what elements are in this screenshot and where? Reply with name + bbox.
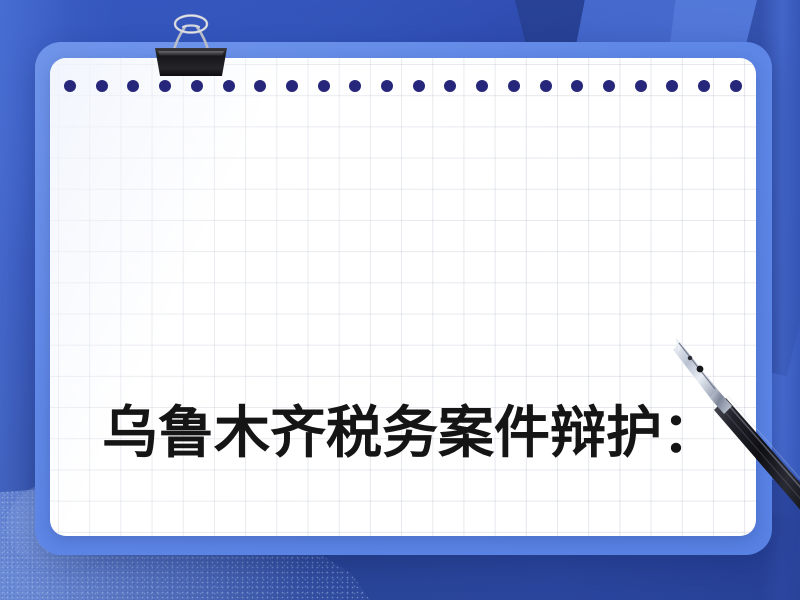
paper-punch-dot (223, 80, 235, 92)
binder-clip-icon (152, 14, 230, 76)
paper-punch-dot (96, 80, 108, 92)
paper-punch-dot (159, 80, 171, 92)
paper-punch-dot (191, 80, 203, 92)
paper-punch-dot (381, 80, 393, 92)
paper-punch-dot (444, 80, 456, 92)
paper-punch-dot (254, 80, 266, 92)
paper-punch-dot (571, 80, 583, 92)
title-card-canvas: 乌鲁木齐税务案件辩护： 法理与情理交织，守护财 产与自由 (0, 0, 800, 600)
paper-punch-dot (635, 80, 647, 92)
title-line-1: 乌鲁木齐税务案件辩护： (102, 394, 756, 474)
binder-clip-body-sheen (158, 51, 224, 56)
paper-punch-dot (127, 80, 139, 92)
paper-punch-dot (349, 80, 361, 92)
paper-punch-dot (508, 80, 520, 92)
paper-punch-dot (64, 80, 76, 92)
paper-punch-dot-row (50, 80, 756, 94)
paper-punch-dot (666, 80, 678, 92)
paper-punch-dot (286, 80, 298, 92)
paper-punch-dot (603, 80, 615, 92)
paper-punch-dot (318, 80, 330, 92)
paper-punch-dot (476, 80, 488, 92)
page-title: 乌鲁木齐税务案件辩护： 法理与情理交织，守护财 产与自由 (102, 234, 756, 536)
paper-punch-dot (413, 80, 425, 92)
paper-punch-dot (730, 80, 742, 92)
note-paper: 乌鲁木齐税务案件辩护： 法理与情理交织，守护财 产与自由 (50, 58, 756, 536)
paper-punch-dot (698, 80, 710, 92)
paper-punch-dot (540, 80, 552, 92)
